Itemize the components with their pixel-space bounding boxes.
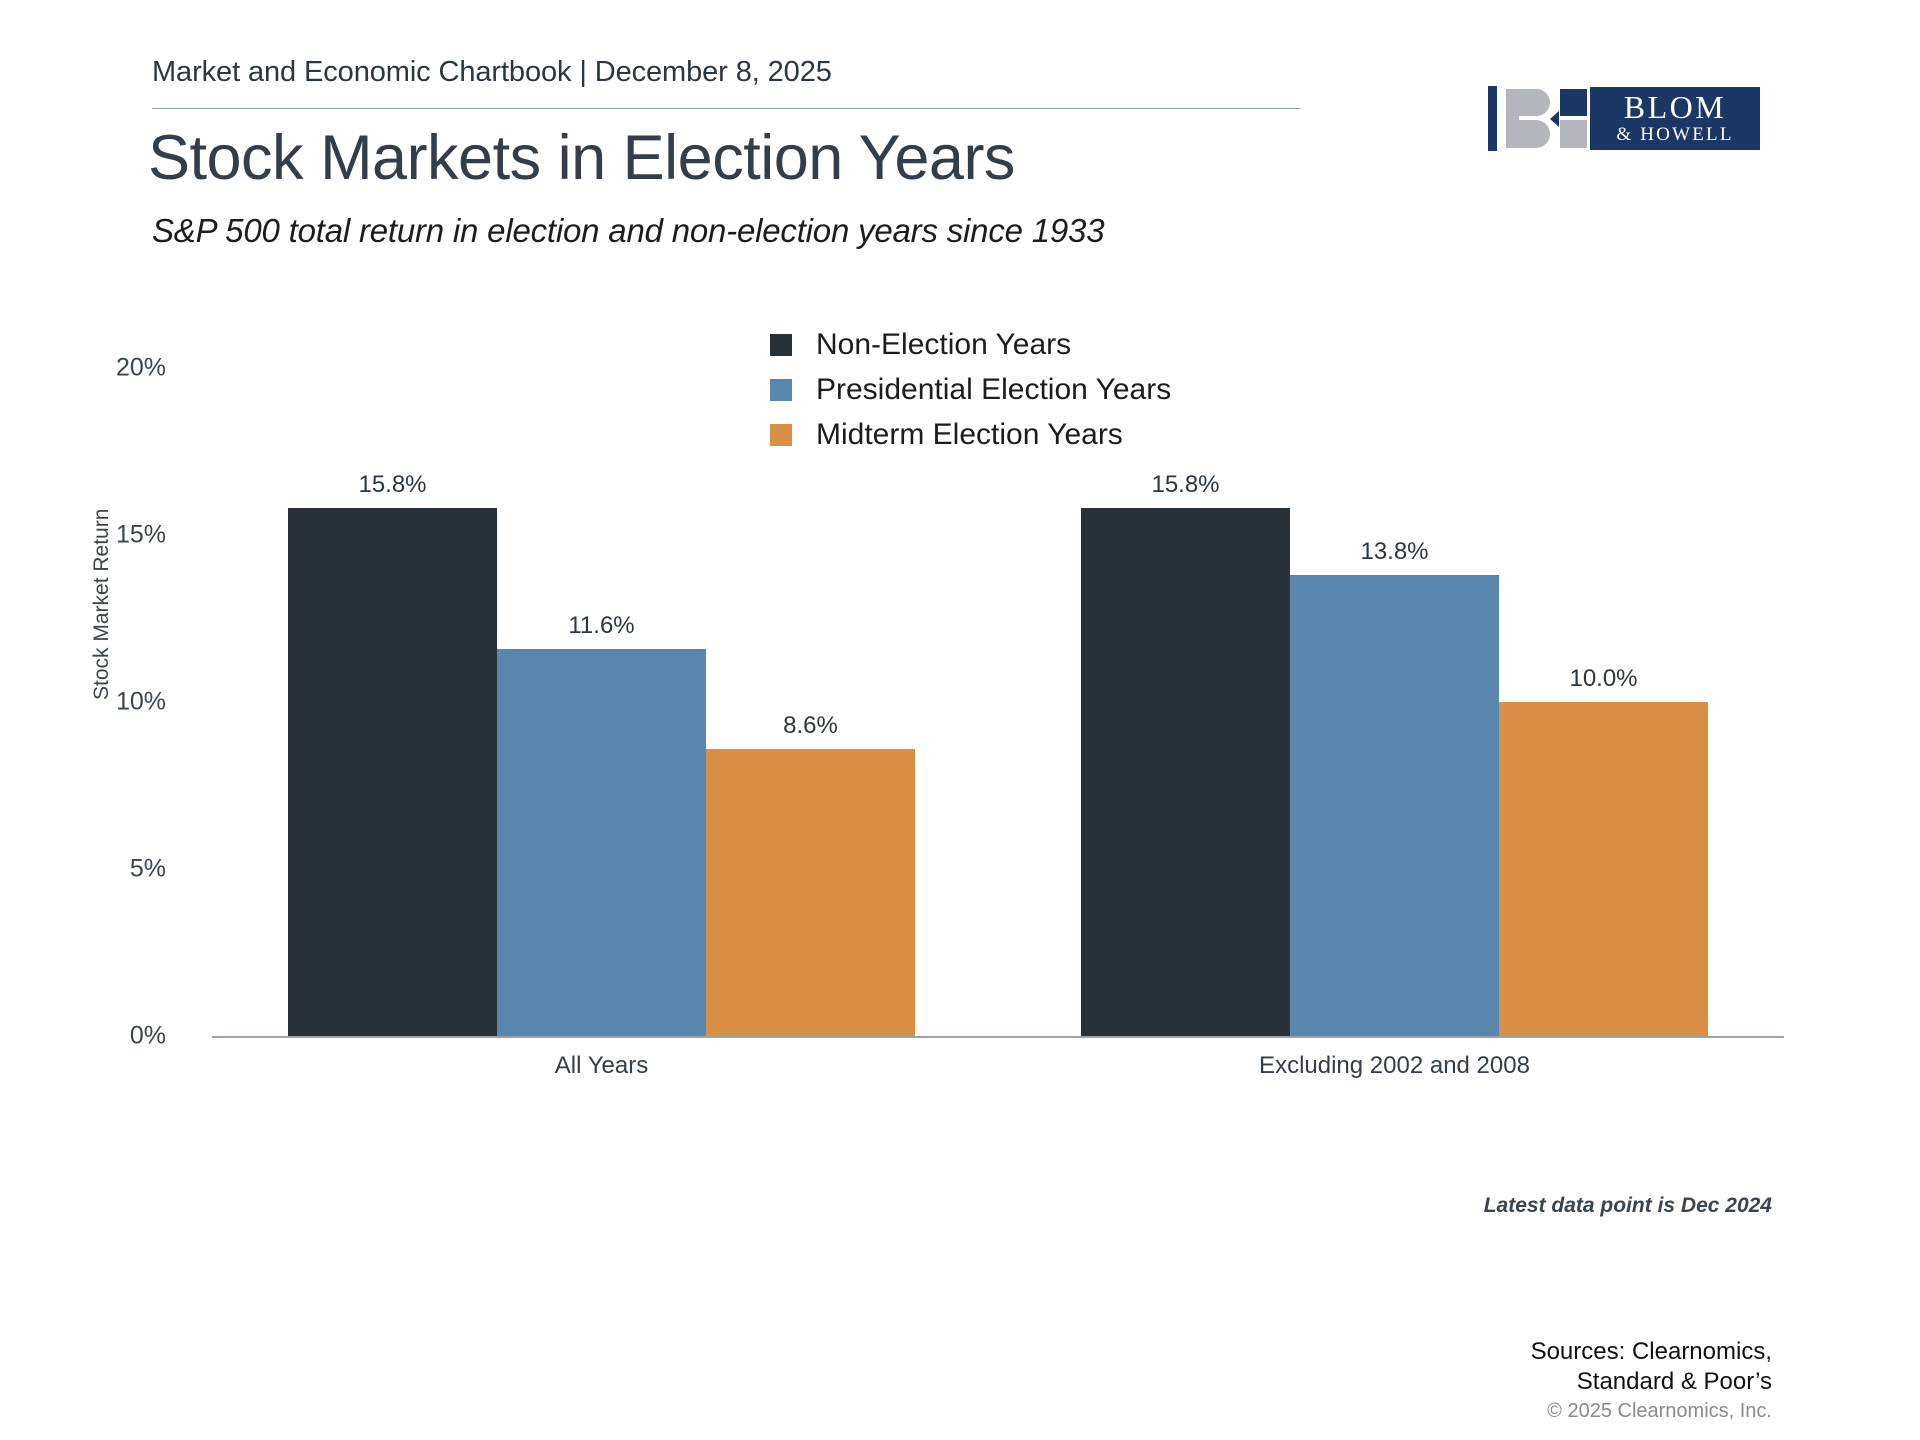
x-axis-group-label: All Years <box>555 1052 648 1080</box>
copyright-note: © 2025 Clearnomics, Inc. <box>1547 1400 1772 1423</box>
sources-line-1: Sources: Clearnomics, <box>1531 1337 1772 1367</box>
sources-note: Sources: Clearnomics, Standard & Poor’s <box>1531 1337 1772 1397</box>
legend-label: Non-Election Years <box>816 328 1071 362</box>
latest-data-note: Latest data point is Dec 2024 <box>1484 1194 1772 1218</box>
x-axis-group-label: Excluding 2002 and 2008 <box>1259 1052 1530 1080</box>
bar-value-label: 11.6% <box>568 612 634 640</box>
bar-value-label: 10.0% <box>1569 665 1637 693</box>
chart-legend: Non-Election YearsPresidential Election … <box>770 322 1290 457</box>
bar-value-label: 15.8% <box>1151 471 1219 499</box>
legend-swatch-icon <box>770 334 792 356</box>
bar-chart: Stock Market Return 0%5%10%15%20% 15.8%1… <box>0 0 1920 1440</box>
legend-item-1[interactable]: Non-Election Years <box>770 322 1290 367</box>
bar: 13.8% <box>1290 575 1499 1036</box>
bar: 15.8% <box>1081 508 1290 1036</box>
legend-label: Midterm Election Years <box>816 418 1123 452</box>
bar-value-label: 8.6% <box>783 712 838 740</box>
bar: 11.6% <box>497 649 706 1036</box>
bar: 10.0% <box>1499 702 1708 1036</box>
bar-value-label: 15.8% <box>358 471 426 499</box>
y-axis-tick: 10% <box>46 688 166 717</box>
legend-swatch-icon <box>770 424 792 446</box>
y-axis-tick: 5% <box>46 855 166 884</box>
legend-swatch-icon <box>770 379 792 401</box>
y-axis-tick: 15% <box>46 521 166 550</box>
legend-label: Presidential Election Years <box>816 373 1171 407</box>
sources-line-2: Standard & Poor’s <box>1531 1367 1772 1397</box>
y-axis-tick: 20% <box>46 354 166 383</box>
y-axis-tick: 0% <box>46 1022 166 1051</box>
x-axis-line <box>212 1036 1784 1038</box>
legend-item-3[interactable]: Midterm Election Years <box>770 412 1290 457</box>
bar: 8.6% <box>706 749 915 1036</box>
legend-item-2[interactable]: Presidential Election Years <box>770 367 1290 412</box>
plot-area: 15.8%11.6%8.6%15.8%13.8%10.0% <box>212 368 1784 1036</box>
bar: 15.8% <box>288 508 497 1036</box>
bar-value-label: 13.8% <box>1360 538 1428 566</box>
